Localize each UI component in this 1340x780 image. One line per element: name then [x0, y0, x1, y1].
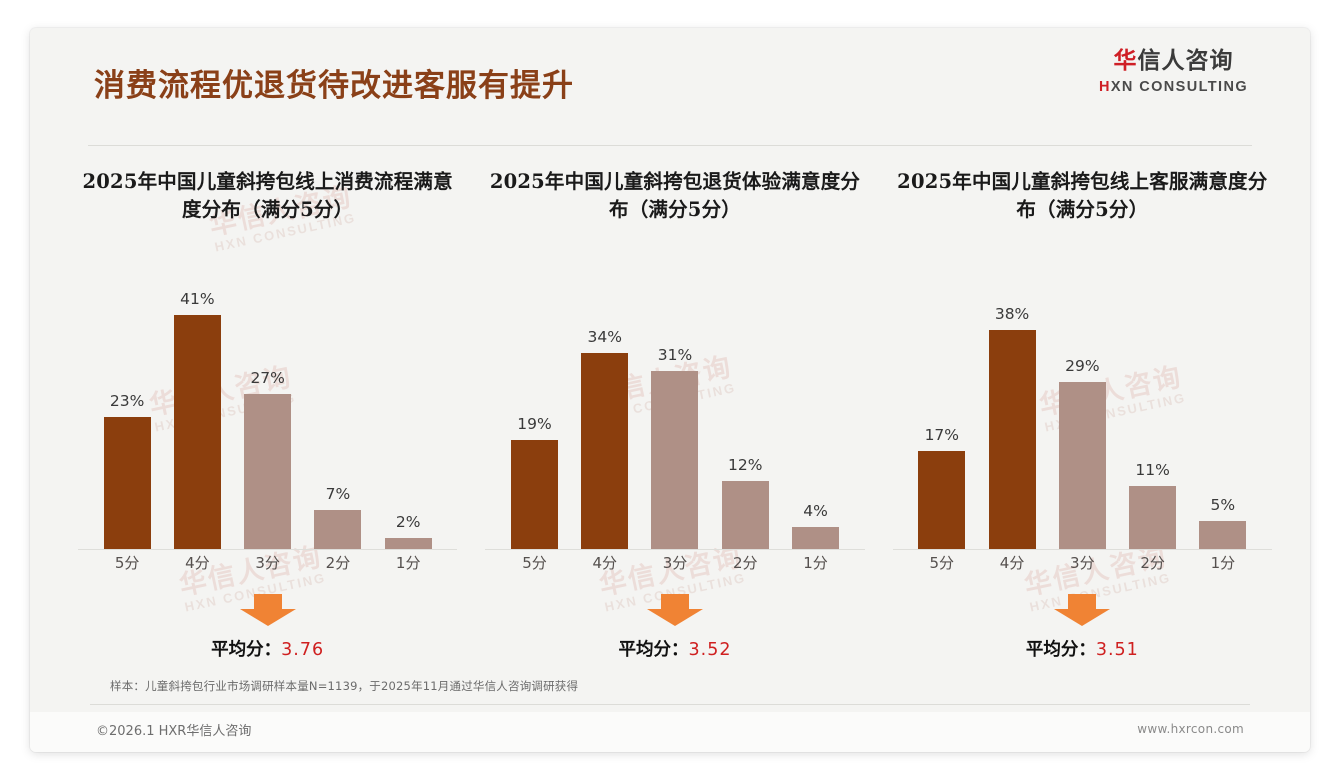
bar-value-label: 34% [588, 328, 622, 346]
category-label: 5分 [499, 552, 569, 573]
category-label: 3分 [233, 552, 303, 573]
bar-value-label: 27% [250, 369, 284, 387]
bar[interactable] [1059, 382, 1106, 550]
header-divider [88, 145, 1252, 146]
axis-baseline [78, 549, 457, 550]
bar-value-label: 41% [180, 290, 214, 308]
bar[interactable] [581, 353, 628, 550]
average-label: 平均分： [1026, 640, 1096, 660]
bar[interactable] [1199, 521, 1246, 550]
bar-slot: 27% [233, 290, 303, 550]
bar-value-label: 29% [1065, 357, 1099, 375]
category-label: 2分 [710, 552, 780, 573]
chart-panel-2: 2025年中国儿童斜挎包退货体验满意度分布（满分5分） 19% 34% 31% [471, 168, 878, 661]
logo-chinese-accent: 华 [1113, 48, 1137, 74]
bar[interactable] [1129, 486, 1176, 550]
bar[interactable] [792, 527, 839, 550]
bar-slot: 31% [640, 290, 710, 550]
category-label: 1分 [373, 552, 443, 573]
category-axis: 5分 4分 3分 2分 1分 [499, 552, 850, 573]
chart-title: 2025年中国儿童斜挎包线上消费流程满意度分布（满分5分） [78, 168, 457, 228]
bar[interactable] [918, 451, 965, 550]
bar-slot: 17% [907, 290, 977, 550]
bar-slot: 7% [303, 290, 373, 550]
axis-baseline [893, 549, 1272, 550]
bar-chart: 23% 41% 27% 7% [78, 280, 457, 550]
chart-panel-3: 2025年中国儿童斜挎包线上客服满意度分布（满分5分） 17% 38% 29% [879, 168, 1286, 661]
source-footnote: 样本：儿童斜挎包行业市场调研样本量N=1139，于2025年11月通过华信人咨询… [110, 678, 578, 694]
bar-slot: 41% [162, 290, 232, 550]
axis-baseline [485, 549, 864, 550]
category-label: 3分 [1047, 552, 1117, 573]
category-axis: 5分 4分 3分 2分 1分 [92, 552, 443, 573]
average-value: 3.51 [1096, 640, 1139, 660]
bar-value-label: 38% [995, 305, 1029, 323]
bar-value-label: 2% [396, 513, 421, 531]
bar-slot: 5% [1188, 290, 1258, 550]
category-label: 1分 [1188, 552, 1258, 573]
logo-english: HXN CONSULTING [1099, 80, 1248, 95]
copyright-text: ©2026.1 HXR华信人咨询 [96, 720, 251, 739]
category-label: 5分 [907, 552, 977, 573]
bar[interactable] [511, 440, 558, 550]
bar-slot: 19% [499, 290, 569, 550]
bar-slot: 38% [977, 290, 1047, 550]
bar-value-label: 17% [925, 426, 959, 444]
bar[interactable] [722, 481, 769, 550]
bar[interactable] [314, 510, 361, 550]
category-label: 5分 [92, 552, 162, 573]
bar-slot: 29% [1047, 290, 1117, 550]
category-label: 2分 [1117, 552, 1187, 573]
down-arrow-icon [647, 594, 703, 626]
average-block: 平均分：3.76 [78, 594, 457, 661]
average-label: 平均分： [211, 640, 281, 660]
bar-value-label: 4% [803, 502, 828, 520]
average-value: 3.76 [281, 640, 324, 660]
bar-slot: 2% [373, 290, 443, 550]
bar-value-label: 31% [658, 346, 692, 364]
slide-header: 消费流程优退货待改进客服有提升 华信人咨询 HXN CONSULTING [30, 28, 1310, 116]
bar-value-label: 23% [110, 392, 144, 410]
average-label: 平均分： [619, 640, 689, 660]
bar[interactable] [244, 394, 291, 550]
slide-card: 消费流程优退货待改进客服有提升 华信人咨询 HXN CONSULTING 华信人… [30, 28, 1310, 752]
bar-group: 17% 38% 29% 11% [907, 290, 1258, 550]
bar-slot: 34% [570, 290, 640, 550]
bar-slot: 4% [780, 290, 850, 550]
logo-english-accent: H [1099, 79, 1111, 95]
bar-value-label: 5% [1211, 496, 1236, 514]
bar-slot: 11% [1117, 290, 1187, 550]
average-value: 3.52 [689, 640, 732, 660]
bar-slot: 23% [92, 290, 162, 550]
bar[interactable] [989, 330, 1036, 550]
down-arrow-icon [1054, 594, 1110, 626]
bar-group: 23% 41% 27% 7% [92, 290, 443, 550]
bar-value-label: 11% [1135, 461, 1169, 479]
chart-panel-1: 2025年中国儿童斜挎包线上消费流程满意度分布（满分5分） 23% 41% 27… [64, 168, 471, 661]
bar-chart: 17% 38% 29% 11% [893, 280, 1272, 550]
down-arrow-icon [240, 594, 296, 626]
average-score: 平均分：3.51 [893, 636, 1272, 661]
website-link[interactable]: www.hxrcon.com [1137, 722, 1244, 736]
bar-group: 19% 34% 31% 12% [499, 290, 850, 550]
category-label: 1分 [780, 552, 850, 573]
category-label: 4分 [570, 552, 640, 573]
category-axis: 5分 4分 3分 2分 1分 [907, 552, 1258, 573]
average-score: 平均分：3.76 [78, 636, 457, 661]
bar-chart: 19% 34% 31% 12% [485, 280, 864, 550]
footer-divider [90, 704, 1250, 705]
company-logo: 华信人咨询 HXN CONSULTING [1099, 50, 1248, 95]
chart-title: 2025年中国儿童斜挎包退货体验满意度分布（满分5分） [485, 168, 864, 228]
bar-slot: 12% [710, 290, 780, 550]
bar[interactable] [651, 371, 698, 550]
category-label: 4分 [977, 552, 1047, 573]
bar-value-label: 19% [517, 415, 551, 433]
bar-value-label: 7% [326, 485, 351, 503]
bar[interactable] [104, 417, 151, 550]
category-label: 2分 [303, 552, 373, 573]
logo-chinese: 华信人咨询 [1099, 50, 1248, 73]
category-label: 4分 [162, 552, 232, 573]
bar-value-label: 12% [728, 456, 762, 474]
page-title: 消费流程优退货待改进客服有提升 [94, 60, 574, 105]
average-score: 平均分：3.52 [485, 636, 864, 661]
category-label: 3分 [640, 552, 710, 573]
charts-container: 2025年中国儿童斜挎包线上消费流程满意度分布（满分5分） 23% 41% 27… [64, 168, 1286, 661]
average-block: 平均分：3.51 [893, 594, 1272, 661]
average-block: 平均分：3.52 [485, 594, 864, 661]
slide-footer: ©2026.1 HXR华信人咨询 www.hxrcon.com [30, 712, 1310, 752]
chart-title: 2025年中国儿童斜挎包线上客服满意度分布（满分5分） [893, 168, 1272, 228]
bar[interactable] [174, 315, 221, 550]
logo-english-rest: XN CONSULTING [1111, 79, 1248, 95]
logo-chinese-rest: 信人咨询 [1137, 48, 1233, 74]
